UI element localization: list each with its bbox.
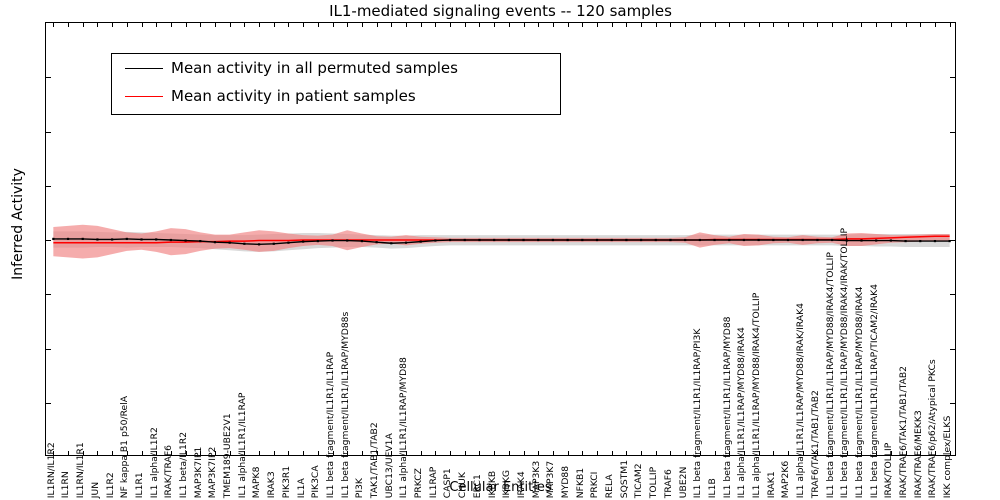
permuted-data-point (361, 240, 363, 242)
x-tick-mark (479, 451, 480, 455)
x-tick-mark (83, 23, 84, 27)
y-tick-mark (46, 132, 51, 133)
x-tick-mark (509, 23, 510, 27)
x-tick-mark (935, 23, 936, 27)
x-tick-mark (612, 451, 613, 455)
x-tick-mark (685, 23, 686, 27)
permuted-data-point (625, 239, 627, 241)
permuted-data-point (229, 242, 231, 244)
x-tick-mark (362, 23, 363, 27)
permuted-data-point (243, 243, 245, 245)
x-tick-mark (274, 23, 275, 27)
x-tick-mark (127, 23, 128, 27)
x-tick-label: IL1 beta fragment/IL1R1/IL1RAP (326, 352, 335, 498)
x-tick-mark (112, 451, 113, 455)
x-tick-mark (847, 23, 848, 27)
x-tick-mark (333, 23, 334, 27)
x-tick-mark (97, 451, 98, 455)
x-tick-mark (215, 23, 216, 27)
permuted-data-point (537, 239, 539, 241)
x-tick-mark (171, 23, 172, 27)
permuted-data-point (611, 239, 613, 241)
legend-line-patient (125, 96, 163, 97)
x-tick-mark (142, 451, 143, 455)
x-tick-mark (186, 23, 187, 27)
permuted-data-point (875, 239, 877, 241)
x-tick-mark (200, 23, 201, 27)
x-tick-mark (259, 451, 260, 455)
x-tick-mark (230, 23, 231, 27)
x-tick-mark (685, 451, 686, 455)
permuted-data-point (669, 239, 671, 241)
x-tick-mark (524, 23, 525, 27)
permuted-data-point (214, 241, 216, 243)
x-tick-mark (435, 451, 436, 455)
permuted-data-point (904, 240, 906, 242)
x-tick-mark (861, 23, 862, 27)
x-tick-mark (641, 451, 642, 455)
x-tick-mark (670, 23, 671, 27)
legend-label-permuted: Mean activity in all permuted samples (171, 61, 458, 76)
x-tick-mark (142, 23, 143, 27)
x-axis-label: Cellular Entities (45, 480, 956, 495)
x-tick-label: IL1 alpha/IL1R1/IL1RAP/MYD88/IRAK4/TOLLI… (752, 293, 761, 498)
x-tick-mark (97, 23, 98, 27)
legend-line-permuted (125, 68, 163, 69)
x-tick-mark (421, 451, 422, 455)
permuted-data-point (273, 243, 275, 245)
x-tick-label: IRAK/TRAF6/p62/Atypical PKCs (928, 359, 937, 498)
x-tick-label: IL1 alpha/IL1R1/IL1RAP/MYD88/IRAK4 (737, 327, 746, 498)
permuted-data-point (140, 238, 142, 240)
permuted-data-point (787, 239, 789, 241)
y-axis-label: Inferred Activity (10, 104, 26, 344)
x-tick-mark (759, 23, 760, 27)
x-tick-mark (421, 23, 422, 27)
x-tick-label: IL1 beta fragment/IL1R1/IL1RAP/TICAM2/IR… (869, 284, 878, 498)
y-tick-mark (46, 403, 51, 404)
x-tick-mark (259, 23, 260, 27)
x-tick-mark (68, 23, 69, 27)
x-tick-label: IL1 beta fragment/IL1R1/IL1RAP/MYD88/IRA… (855, 286, 864, 498)
permuted-data-point (728, 239, 730, 241)
x-tick-mark (391, 23, 392, 27)
permuted-data-point (478, 239, 480, 241)
figure: IL1-mediated signaling events -- 120 sam… (0, 0, 1000, 500)
x-tick-mark (568, 23, 569, 27)
x-tick-mark (53, 23, 54, 27)
legend-label-patient: Mean activity in patient samples (171, 89, 416, 104)
x-tick-mark (406, 23, 407, 27)
permuted-data-point (287, 242, 289, 244)
x-tick-mark (670, 451, 671, 455)
permuted-data-point (317, 240, 319, 242)
permuted-data-point (640, 239, 642, 241)
permuted-data-point (713, 239, 715, 241)
x-tick-mark (803, 23, 804, 27)
permuted-data-point (184, 239, 186, 241)
x-tick-mark (465, 451, 466, 455)
x-tick-mark (347, 23, 348, 27)
x-tick-mark (788, 451, 789, 455)
x-tick-mark (876, 23, 877, 27)
y-tick-mark (950, 294, 955, 295)
x-tick-mark (538, 23, 539, 27)
permuted-data-point (684, 239, 686, 241)
x-tick-mark (156, 23, 157, 27)
permuted-data-point (596, 239, 598, 241)
permuted-data-point (860, 239, 862, 241)
x-tick-mark (597, 23, 598, 27)
x-tick-mark (597, 451, 598, 455)
x-tick-mark (715, 451, 716, 455)
x-tick-mark (612, 23, 613, 27)
permuted-data-point (567, 239, 569, 241)
permuted-data-point (52, 238, 54, 240)
x-tick-mark (538, 451, 539, 455)
x-tick-mark (641, 23, 642, 27)
x-tick-mark (450, 451, 451, 455)
x-tick-label: IRAK/TRAF6/TAK1/TAB1/TAB2 (899, 366, 908, 498)
x-tick-mark (303, 23, 304, 27)
permuted-data-point (699, 239, 701, 241)
x-tick-mark (112, 23, 113, 27)
permuted-data-point (376, 241, 378, 243)
permuted-data-point (258, 243, 260, 245)
y-tick-mark (46, 186, 51, 187)
permuted-data-point (522, 239, 524, 241)
x-tick-mark (715, 23, 716, 27)
permuted-data-point (111, 238, 113, 240)
permuted-data-point (464, 239, 466, 241)
x-tick-mark (626, 451, 627, 455)
x-tick-mark (744, 23, 745, 27)
permuted-data-point (581, 239, 583, 241)
permuted-data-point (126, 238, 128, 240)
x-tick-mark (553, 23, 554, 27)
x-tick-mark (626, 23, 627, 27)
y-tick-mark (46, 349, 51, 350)
permuted-data-point (346, 239, 348, 241)
x-tick-mark (773, 451, 774, 455)
permuted-data-point (758, 239, 760, 241)
permuted-data-point (552, 239, 554, 241)
x-tick-mark (494, 451, 495, 455)
x-tick-mark (773, 23, 774, 27)
permuted-data-point (390, 242, 392, 244)
x-tick-mark (656, 451, 657, 455)
x-tick-mark (817, 23, 818, 27)
permuted-data-point (772, 239, 774, 241)
x-tick-mark (465, 23, 466, 27)
x-tick-mark (68, 451, 69, 455)
permuted-data-point (96, 238, 98, 240)
x-tick-mark (891, 23, 892, 27)
y-tick-mark (950, 240, 955, 241)
x-tick-mark (788, 23, 789, 27)
x-tick-label: IL1 beta fragment/IL1R1/IL1RAP/MYD88/IRA… (840, 228, 849, 498)
permuted-data-point (405, 242, 407, 244)
x-tick-mark (906, 23, 907, 27)
permuted-data-point (934, 240, 936, 242)
x-tick-mark (509, 451, 510, 455)
x-tick-mark (303, 451, 304, 455)
x-tick-mark (729, 23, 730, 27)
x-tick-mark (582, 451, 583, 455)
x-tick-mark (950, 23, 951, 27)
permuted-data-point (199, 240, 201, 242)
permuted-data-point (434, 239, 436, 241)
x-tick-mark (524, 451, 525, 455)
permuted-data-point (508, 239, 510, 241)
permuted-data-point (420, 241, 422, 243)
permuted-data-point (67, 238, 69, 240)
x-tick-mark (553, 451, 554, 455)
permuted-data-point (831, 239, 833, 241)
x-tick-mark (244, 23, 245, 27)
x-tick-mark (568, 451, 569, 455)
x-tick-label: IL1 beta fragment/IL1R1/IL1RAP/MYD88 (722, 316, 731, 498)
permuted-data-point (170, 239, 172, 241)
permuted-data-point (743, 239, 745, 241)
y-tick-mark (46, 294, 51, 295)
legend-entry-patient: Mean activity in patient samples (112, 82, 560, 110)
y-tick-mark (950, 132, 955, 133)
chart-title: IL1-mediated signaling events -- 120 sam… (45, 2, 956, 20)
permuted-data-point (302, 241, 304, 243)
legend-entry-permuted: Mean activity in all permuted samples (112, 54, 560, 82)
permuted-data-point (816, 239, 818, 241)
x-tick-mark (494, 23, 495, 27)
x-tick-mark (288, 23, 289, 27)
legend: Mean activity in all permuted samples Me… (111, 53, 561, 115)
y-tick-mark (950, 186, 955, 187)
y-tick-mark (46, 77, 51, 78)
x-tick-mark (274, 451, 275, 455)
x-tick-mark (832, 23, 833, 27)
x-tick-mark (318, 451, 319, 455)
x-tick-mark (288, 451, 289, 455)
x-tick-mark (377, 23, 378, 27)
x-tick-mark (700, 23, 701, 27)
x-tick-label: IL1 beta fragment/IL1R1/IL1RAP/MYD88/IRA… (825, 252, 834, 498)
x-tick-label: IL1 alpha/IL1R1/IL1RAP/MYD88 (399, 357, 408, 498)
x-tick-mark (920, 23, 921, 27)
permuted-data-point (655, 239, 657, 241)
x-tick-mark (479, 23, 480, 27)
permuted-data-point (331, 239, 333, 241)
y-tick-mark (46, 240, 51, 241)
y-tick-mark (950, 403, 955, 404)
x-tick-mark (656, 23, 657, 27)
x-tick-mark (318, 23, 319, 27)
y-tick-mark (950, 349, 955, 350)
x-tick-label: IL1 beta fragment/IL1R1/IL1RAP/PI3K (693, 328, 702, 498)
permuted-data-point (82, 238, 84, 240)
x-tick-label: IL1 alpha/IL1R1/IL1RAP/MYD88/IRAK/IRAK4 (796, 303, 805, 498)
permuted-data-point (155, 238, 157, 240)
x-tick-mark (582, 23, 583, 27)
permuted-data-point (449, 239, 451, 241)
x-tick-mark (435, 23, 436, 27)
x-tick-label: IL1 beta fragment/IL1R1/IL1RAP/MYD88s (340, 311, 349, 498)
permuted-data-point (919, 240, 921, 242)
x-tick-mark (450, 23, 451, 27)
permuted-data-point (493, 239, 495, 241)
x-tick-mark (362, 451, 363, 455)
permuted-data-point (890, 239, 892, 241)
y-tick-mark (950, 77, 955, 78)
permuted-data-point (802, 239, 804, 241)
